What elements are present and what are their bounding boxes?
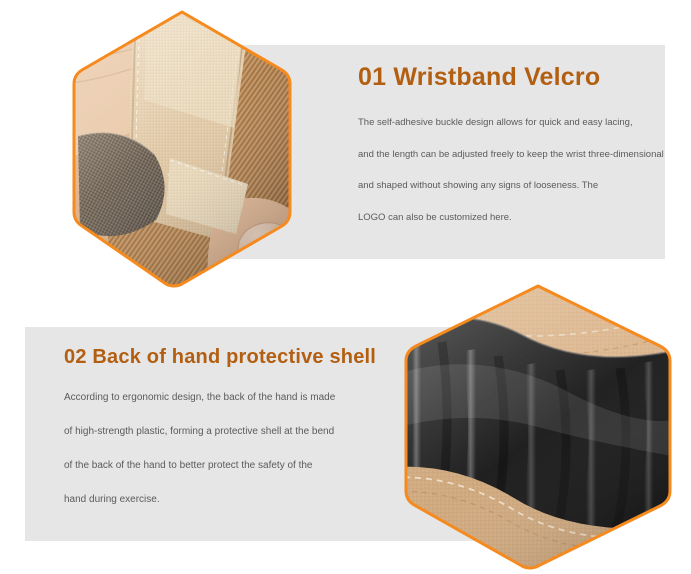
section-01-title: 01 Wristband Velcro bbox=[358, 62, 648, 92]
section-01-body-line: The self-adhesive buckle design allows f… bbox=[358, 118, 648, 128]
section-01-body-line: and shaped without showing any signs of … bbox=[358, 181, 648, 191]
section-01-body-line: LOGO can also be customized here. bbox=[358, 213, 648, 223]
hexagon-photo-frame-01 bbox=[70, 8, 294, 288]
section-01-body-line: and the length can be adjusted freely to… bbox=[358, 150, 648, 160]
section-02-text: 02 Back of hand protective shell Accordi… bbox=[64, 345, 364, 505]
hexagon-photo-frame-02 bbox=[402, 282, 674, 570]
section-02-body-line: According to ergonomic design, the back … bbox=[64, 393, 364, 403]
product-feature-page: 01 Wristband Velcro The self-adhesive bu… bbox=[0, 0, 691, 574]
section-02-body-line: of high-strength plastic, forming a prot… bbox=[64, 427, 364, 437]
section-02-body-line: hand during exercise. bbox=[64, 495, 364, 505]
section-02-title: 02 Back of hand protective shell bbox=[64, 345, 364, 369]
section-02-body: According to ergonomic design, the back … bbox=[64, 393, 364, 505]
protective-shell-photo bbox=[402, 282, 674, 570]
section-01-body: The self-adhesive buckle design allows f… bbox=[358, 118, 648, 222]
section-01-text: 01 Wristband Velcro The self-adhesive bu… bbox=[358, 62, 648, 222]
section-02-body-line: of the back of the hand to better protec… bbox=[64, 461, 364, 471]
wristband-velcro-photo bbox=[70, 8, 294, 288]
